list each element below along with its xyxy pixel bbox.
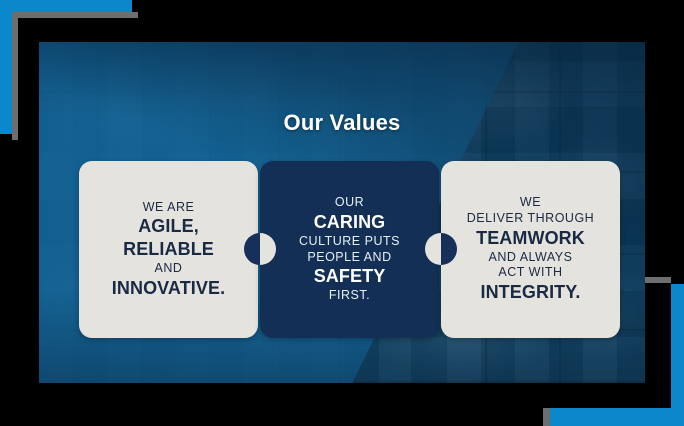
corner-bracket-bottom-right-gray-vertical	[643, 277, 671, 283]
values-panel: Our Values WE ARE AGILE, RELIABLE AND IN…	[39, 42, 645, 383]
slide-canvas: Our Values WE ARE AGILE, RELIABLE AND IN…	[0, 0, 684, 426]
card-line: INNOVATIVE.	[112, 277, 225, 300]
corner-bracket-bottom-right-blue-vertical	[671, 284, 684, 426]
card-line: WE	[520, 195, 541, 211]
card-line: INTEGRITY.	[480, 281, 580, 304]
corner-bracket-bottom-right-gray-horizontal	[543, 408, 550, 426]
corner-bracket-top-left-blue-horizontal	[0, 0, 132, 12]
value-card-teamwork-integrity[interactable]: WE DELIVER THROUGH TEAMWORK AND ALWAYS A…	[441, 161, 620, 338]
corner-bracket-bottom-right-blue-horizontal	[548, 408, 684, 426]
corner-bracket-top-left-gray-vertical	[12, 12, 18, 140]
connector-half-navy	[244, 233, 260, 265]
card-line: WE ARE	[143, 200, 195, 216]
card-line: AND	[155, 261, 183, 277]
values-card-row: WE ARE AGILE, RELIABLE AND INNOVATIVE. O…	[79, 161, 621, 338]
page-title: Our Values	[39, 110, 645, 136]
card-line: OUR	[335, 195, 364, 211]
value-card-agile-reliable-innovative[interactable]: WE ARE AGILE, RELIABLE AND INNOVATIVE.	[79, 161, 258, 338]
corner-bracket-top-left-blue-vertical	[0, 0, 12, 134]
card-line: CARING	[314, 211, 386, 234]
connector-half-cream	[260, 233, 276, 265]
value-card-caring-culture-safety[interactable]: OUR CARING CULTURE PUTS PEOPLE AND SAFET…	[260, 161, 439, 338]
card-line: SAFETY	[314, 265, 386, 288]
card-line: AGILE,	[138, 215, 199, 238]
card-line: DELIVER THROUGH	[467, 211, 594, 227]
card-connector-circle-right	[425, 233, 457, 265]
card-line: RELIABLE	[123, 238, 214, 261]
card-line: CULTURE PUTS	[299, 234, 400, 250]
card-line: PEOPLE AND	[307, 250, 391, 266]
card-line: AND ALWAYS	[489, 250, 573, 266]
card-connector-circle-left	[244, 233, 276, 265]
connector-half-cream	[425, 233, 441, 265]
corner-bracket-top-left-gray-horizontal	[12, 12, 138, 18]
card-line: ACT WITH	[498, 265, 562, 281]
connector-half-navy	[441, 233, 457, 265]
card-line: TEAMWORK	[476, 227, 585, 250]
card-line: FIRST.	[329, 288, 370, 304]
